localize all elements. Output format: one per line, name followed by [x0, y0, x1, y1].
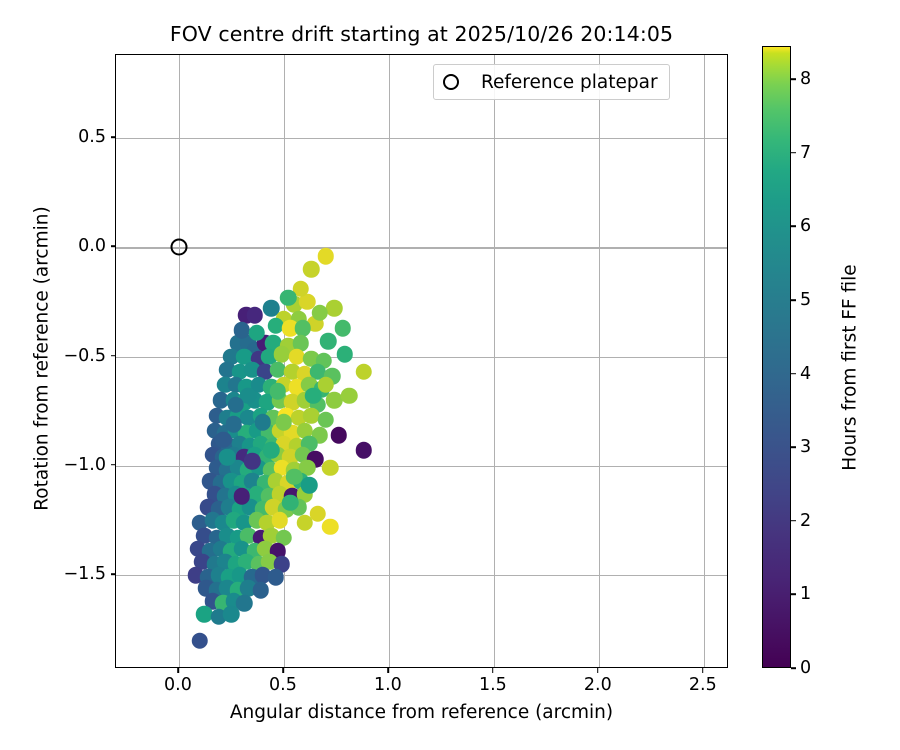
- colorbar-tick-label: 4: [800, 364, 811, 384]
- page-title: FOV centre drift starting at 2025/10/26 …: [0, 22, 843, 46]
- legend: Reference platepar: [433, 64, 670, 100]
- scatter-point: [276, 414, 293, 431]
- colorbar-tick-mark: [791, 594, 796, 596]
- scatter-point: [355, 442, 372, 459]
- y-tick-label: 0.0: [78, 236, 106, 256]
- y-tick-label: −1.0: [64, 455, 107, 475]
- scatter-point: [295, 320, 312, 337]
- scatter-point: [263, 442, 280, 459]
- scatter-point: [223, 606, 240, 623]
- scatter-point: [309, 506, 326, 523]
- colorbar-tick-label: 7: [800, 143, 811, 163]
- scatter-point: [305, 388, 322, 405]
- x-tick-mark: [282, 668, 284, 673]
- scatter-point: [215, 431, 232, 448]
- y-tick-mark: [111, 355, 116, 357]
- plot-area: [115, 54, 728, 668]
- scatter-point: [267, 569, 284, 586]
- colorbar-tick-label: 3: [800, 437, 811, 457]
- gridline-horizontal: [116, 357, 727, 358]
- scatter-point: [271, 512, 288, 529]
- scatter-point: [244, 453, 261, 470]
- x-tick-label: 0.0: [164, 675, 192, 695]
- y-tick-label: −1.5: [64, 564, 107, 584]
- x-axis-label: Angular distance from reference (arcmin): [115, 702, 728, 723]
- x-tick-label: 2.0: [584, 675, 612, 695]
- scatter-point: [280, 289, 297, 306]
- scatter-point: [301, 477, 318, 494]
- colorbar-tick-mark: [791, 373, 796, 375]
- gridline-horizontal: [116, 247, 727, 248]
- colorbar-tick-label: 6: [800, 216, 811, 236]
- scatter-point: [355, 364, 372, 381]
- scatter-point: [255, 414, 272, 431]
- x-tick-label: 1.0: [374, 675, 402, 695]
- scatter-point: [320, 333, 337, 350]
- colorbar-tick-label: 5: [800, 290, 811, 310]
- colorbar-tick-label: 2: [800, 511, 811, 531]
- scatter-point: [330, 427, 347, 444]
- scatter-point: [341, 388, 358, 405]
- scatter-point: [234, 488, 251, 505]
- y-tick-mark: [111, 245, 116, 247]
- scatter-point: [337, 346, 354, 363]
- x-tick-label: 0.5: [269, 675, 297, 695]
- scatter-point: [303, 261, 320, 278]
- colorbar-tick-mark: [791, 446, 796, 448]
- scatter-point: [282, 495, 299, 512]
- y-tick-label: −0.5: [64, 346, 107, 366]
- scatter-point: [253, 582, 270, 599]
- x-tick-label: 2.5: [689, 675, 717, 695]
- scatter-point: [318, 412, 335, 429]
- figure-canvas: FOV centre drift starting at 2025/10/26 …: [0, 0, 900, 750]
- gridline-horizontal: [116, 138, 727, 139]
- reference-platepar-point: [170, 239, 187, 256]
- scatter-point: [311, 305, 328, 322]
- y-tick-label: 0.5: [78, 127, 106, 147]
- colorbar: [762, 46, 791, 668]
- reference-platepar-marker-icon: [443, 74, 459, 90]
- colorbar-tick-mark: [791, 667, 796, 669]
- colorbar-tick-mark: [791, 299, 796, 301]
- scatter-point: [246, 307, 263, 324]
- x-tick-mark: [492, 668, 494, 673]
- y-tick-mark: [111, 136, 116, 138]
- legend-item-label: Reference platepar: [481, 72, 658, 93]
- scatter-point: [227, 396, 244, 413]
- y-tick-mark: [111, 573, 116, 575]
- x-tick-mark: [597, 668, 599, 673]
- colorbar-label: Hours from first FF file: [840, 57, 861, 679]
- scatter-point: [269, 383, 286, 400]
- colorbar-tick-label: 0: [800, 658, 811, 678]
- scatter-point: [225, 416, 242, 433]
- x-tick-mark: [702, 668, 704, 673]
- colorbar-tick-label: 8: [800, 69, 811, 89]
- x-tick-mark: [177, 668, 179, 673]
- colorbar-tick-mark: [791, 78, 796, 80]
- x-tick-mark: [387, 668, 389, 673]
- scatter-point: [192, 632, 209, 649]
- y-tick-mark: [111, 464, 116, 466]
- colorbar-tick-mark: [791, 226, 796, 228]
- colorbar-tick-mark: [791, 520, 796, 522]
- scatter-point: [219, 449, 236, 466]
- colorbar-tick-label: 1: [800, 584, 811, 604]
- scatter-point: [322, 519, 339, 536]
- scatter-point: [322, 460, 339, 477]
- colorbar-tick-mark: [791, 152, 796, 154]
- scatter-point: [318, 248, 335, 265]
- x-tick-label: 1.5: [479, 675, 507, 695]
- scatter-point: [248, 324, 265, 341]
- y-axis-label: Rotation from reference (arcmin): [32, 52, 53, 666]
- scatter-point: [326, 300, 343, 317]
- scatter-point: [334, 320, 351, 337]
